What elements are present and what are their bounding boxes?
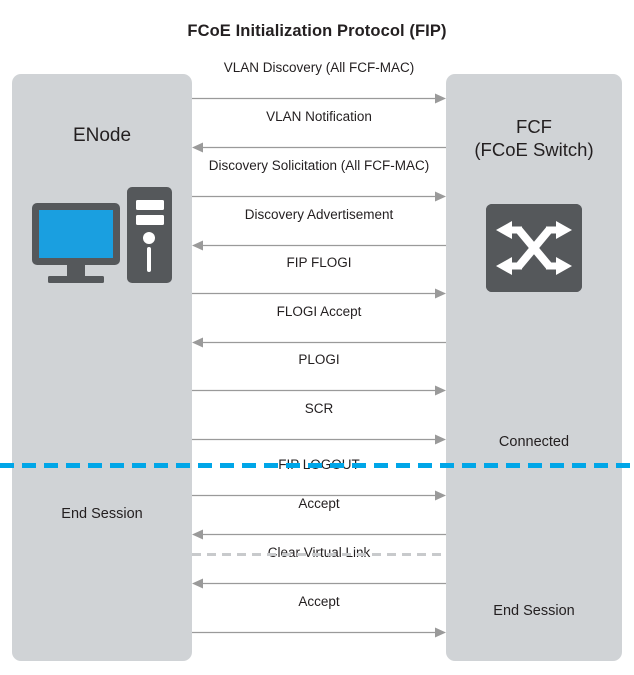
arrow-right-icon	[192, 434, 446, 445]
arrow-left-icon	[192, 240, 446, 251]
message-row: VLAN Notification	[192, 109, 446, 153]
arrow-right-icon	[192, 191, 446, 202]
fcf-panel: FCF (FCoE Switch)	[446, 74, 622, 661]
message-label: SCR	[192, 401, 446, 416]
arrow-left-icon	[192, 142, 446, 153]
status-label-connected: Connected	[446, 434, 622, 450]
arrow-left-icon	[192, 529, 446, 540]
message-label: VLAN Notification	[192, 109, 446, 124]
arrow-right-icon	[192, 385, 446, 396]
arrow-left-icon	[192, 337, 446, 348]
message-label: Discovery Solicitation (All FCF-MAC)	[192, 158, 446, 173]
message-label: Discovery Advertisement	[192, 207, 446, 222]
diagram-canvas: FCoE Initialization Protocol (FIP) ENode	[0, 0, 634, 675]
page-title: FCoE Initialization Protocol (FIP)	[0, 22, 634, 41]
message-row: Accept	[192, 496, 446, 540]
status-label-end-session-enode: End Session	[12, 506, 192, 522]
enode-label: ENode	[12, 124, 192, 148]
fcf-label-line2: (FCoE Switch)	[446, 138, 622, 161]
message-row: PLOGI	[192, 352, 446, 396]
arrow-left-icon	[192, 578, 446, 589]
network-switch-icon	[486, 204, 582, 292]
message-row: FIP FLOGI	[192, 255, 446, 299]
connected-divider	[0, 463, 634, 468]
enode-panel: ENode	[12, 74, 192, 661]
message-row: VLAN Discovery (All FCF-MAC)	[192, 60, 446, 104]
message-label: FIP FLOGI	[192, 255, 446, 270]
message-label: PLOGI	[192, 352, 446, 367]
message-row: Accept	[192, 594, 446, 638]
arrow-right-icon	[192, 288, 446, 299]
arrow-right-icon	[192, 93, 446, 104]
arrow-right-icon	[192, 627, 446, 638]
message-row: Discovery Advertisement	[192, 207, 446, 251]
fcf-label: FCF (FCoE Switch)	[446, 115, 622, 161]
message-row: Clear Virtual Link	[192, 545, 446, 589]
message-row: SCR	[192, 401, 446, 445]
fcf-label-line1: FCF	[446, 115, 622, 138]
message-label: Accept	[192, 496, 446, 511]
message-row: Discovery Solicitation (All FCF-MAC)	[192, 158, 446, 202]
message-row: FLOGI Accept	[192, 304, 446, 348]
message-label: VLAN Discovery (All FCF-MAC)	[192, 60, 446, 75]
clear-link-divider	[192, 553, 446, 556]
message-label: Accept	[192, 594, 446, 609]
status-label-end-session-fcf: End Session	[446, 603, 622, 619]
message-label: FLOGI Accept	[192, 304, 446, 319]
computer-icon	[28, 185, 176, 295]
